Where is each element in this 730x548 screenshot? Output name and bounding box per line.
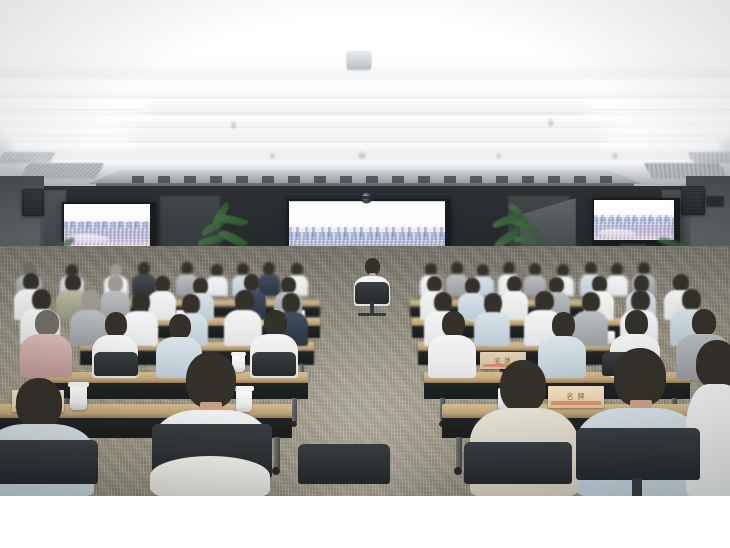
sprinkler-icon — [549, 119, 553, 125]
ceiling-light-fixture — [590, 104, 730, 111]
air-vent — [687, 152, 730, 163]
screen-skyline — [594, 215, 674, 222]
screen-river — [599, 229, 636, 237]
ceiling-light-fixture — [14, 143, 718, 150]
wall-sign — [706, 196, 724, 207]
conference-room-photo: 名 牌 — [0, 0, 730, 496]
right-wall-speaker — [681, 186, 705, 215]
chair-foreground-far-right — [462, 442, 574, 496]
attendee — [428, 311, 476, 378]
ceiling-light-fixture — [0, 86, 730, 98]
left-wall-speaker — [22, 189, 44, 216]
attendee — [20, 310, 72, 378]
chair — [92, 352, 140, 392]
screen-top-rail — [283, 196, 451, 199]
desk-caster — [454, 467, 462, 475]
sprinkler-icon — [613, 152, 617, 157]
sprinkler-icon — [359, 151, 365, 157]
chair-foreground-center-left — [296, 444, 392, 496]
screen-skyline — [289, 234, 445, 240]
ceiling-light-fixture — [36, 160, 696, 166]
ceiling-seam — [0, 78, 730, 80]
desk-leg — [274, 437, 280, 469]
chair-foreground-right — [574, 428, 702, 496]
bottom-white-margin — [0, 496, 730, 548]
sprinkler-icon — [232, 121, 235, 128]
ceiling-light-fixture — [608, 130, 728, 136]
sprinkler-icon — [497, 152, 500, 157]
ceiling-seam — [0, 112, 730, 115]
smoke-detector-icon — [347, 51, 371, 69]
attendee — [474, 293, 510, 346]
front-row-chair — [352, 282, 392, 322]
screen-skyline — [64, 221, 150, 228]
ceiling-light-fixture — [0, 116, 730, 125]
chair-foreground-far-left — [0, 440, 100, 496]
sprinkler-icon — [271, 152, 274, 157]
ceiling-light-fixture — [6, 130, 126, 136]
screenshot-root: 名 牌 — [0, 0, 730, 548]
soffit-downlight-slots — [118, 176, 612, 183]
desk-leg — [292, 398, 297, 422]
ceiling-light-fixture — [0, 104, 144, 111]
chair-seat-cushion — [150, 456, 270, 496]
ceiling-seam — [0, 126, 730, 128]
air-vent — [0, 152, 56, 163]
